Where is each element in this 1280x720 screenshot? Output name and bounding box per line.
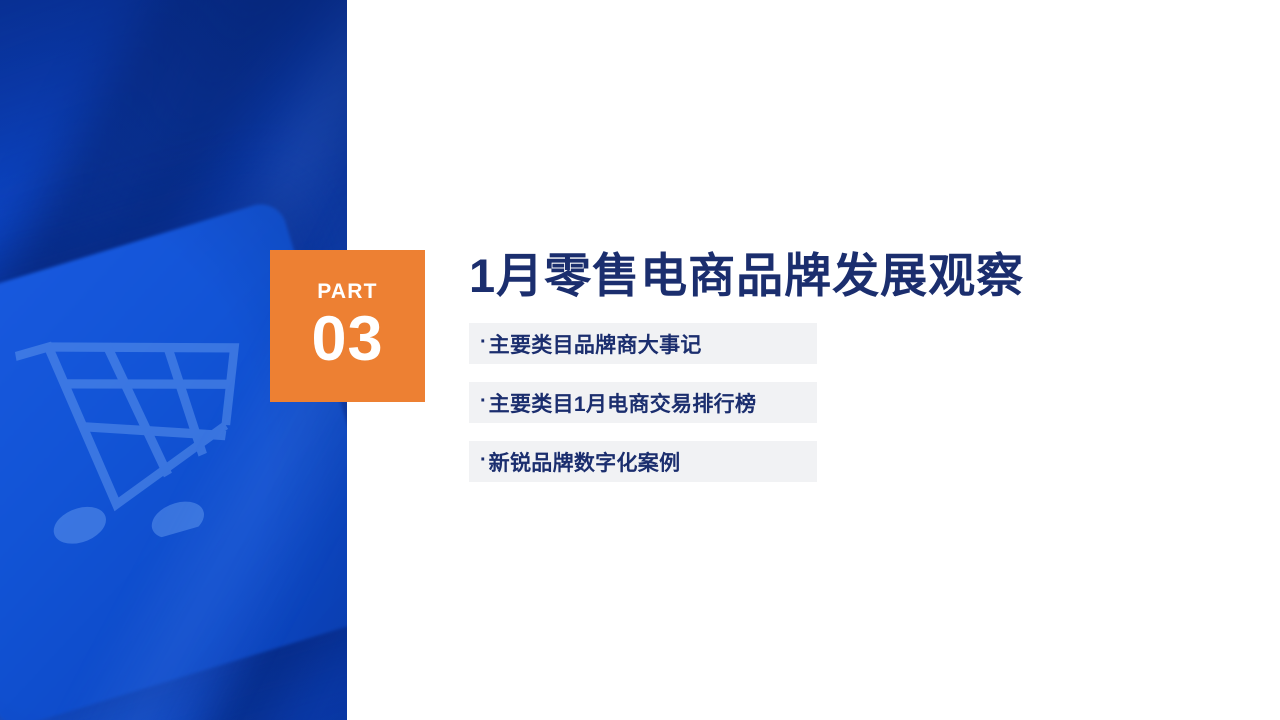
list-item[interactable]: · 新锐品牌数字化案例 [469,441,817,482]
part-number-badge: PART 03 [270,250,425,402]
part-label: PART [317,281,377,302]
page-title: 1月零售电商品牌发展观察 [469,248,1209,303]
bullet-dot-icon: · [480,450,487,470]
slide-canvas: PART 03 1月零售电商品牌发展观察 · 主要类目品牌商大事记 · 主要类目… [0,0,1280,720]
list-item[interactable]: · 主要类目1月电商交易排行榜 [469,382,817,423]
list-item[interactable]: · 主要类目品牌商大事记 [469,323,817,364]
bullet-dot-icon: · [480,391,487,411]
slide-content: 1月零售电商品牌发展观察 · 主要类目品牌商大事记 · 主要类目1月电商交易排行… [469,248,1209,482]
list-item-label: 新锐品牌数字化案例 [489,447,681,477]
list-item-label: 主要类目1月电商交易排行榜 [489,388,757,418]
part-number: 03 [311,308,383,371]
list-item-label: 主要类目品牌商大事记 [489,329,702,359]
agenda-list: · 主要类目品牌商大事记 · 主要类目1月电商交易排行榜 · 新锐品牌数字化案例 [469,323,817,482]
bullet-dot-icon: · [480,332,487,352]
